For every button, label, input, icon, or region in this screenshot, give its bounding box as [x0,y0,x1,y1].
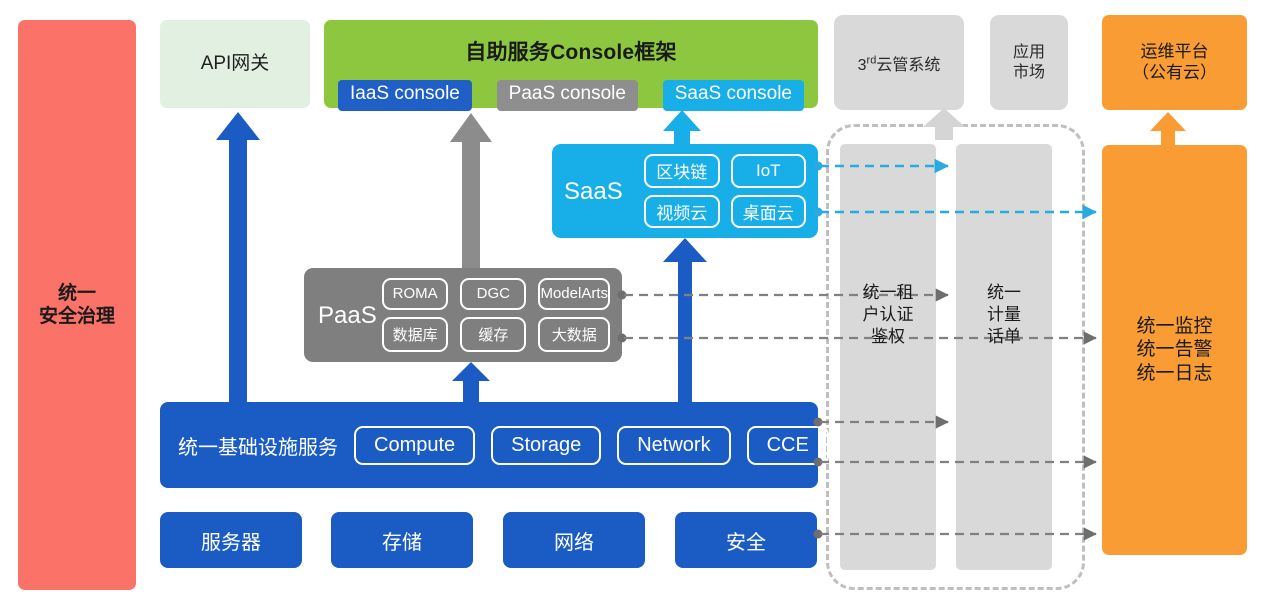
infra-service-chip[interactable]: CCE [747,426,829,465]
api-gateway-box: API网关 [160,20,310,108]
unified-metering-billing-label: 统一 计量 话单 [956,282,1052,348]
saas-service-chip[interactable]: 区块链 [644,154,720,188]
unified-monitoring-panel: 统一监控 统一告警 统一日志 [1102,145,1247,555]
hardware-tile-network[interactable]: 网络 [503,512,645,568]
hardware-tile-storage[interactable]: 存储 [331,512,473,568]
saas-service-chip[interactable]: 桌面云 [731,195,807,229]
saas-service-grid: 区块链 IoT 视频云 桌面云 [644,154,806,228]
infra-service-chip[interactable]: Compute [354,426,475,465]
hardware-tile-label: 存储 [382,526,422,555]
unified-security-governance-label: 统一 安全治理 [39,282,115,328]
infra-service-chip[interactable]: Network [617,426,730,465]
unified-tenant-auth-label: 统一租 户认证 鉴权 [840,282,936,348]
hardware-tile-label: 服务器 [201,526,261,555]
saas-layer: SaaS 区块链 IoT 视频云 桌面云 [552,144,818,238]
hardware-tile-security[interactable]: 安全 [675,512,817,568]
console-frame-title: 自助服务Console框架 [465,36,676,66]
unified-tenant-auth-column [840,144,936,570]
api-gateway-label: API网关 [201,52,270,75]
paas-console-chip[interactable]: PaaS console [497,80,638,111]
application-market-box: 应用 市场 [990,15,1068,110]
hardware-tile-label: 安全 [726,526,766,555]
console-chip-row: IaaS console PaaS console SaaS console [324,80,818,111]
arrow-infra-to-paas [452,362,490,402]
third-party-cloud-management-box: 3rd云管系统 [834,15,964,110]
arrow-infra-to-saas [663,238,707,402]
paas-service-chip[interactable]: 数据库 [382,317,448,353]
arrow-infra-to-api-gateway [216,112,260,402]
saas-service-chip[interactable]: 视频云 [644,195,720,229]
arrow-saas-to-console [663,110,701,144]
paas-service-chip[interactable]: ROMA [382,278,448,310]
saas-service-chip[interactable]: IoT [731,154,807,188]
paas-layer: PaaS ROMA DGC ModelArts 数据库 缓存 大数据 [304,268,622,362]
paas-service-grid: ROMA DGC ModelArts 数据库 缓存 大数据 [382,278,610,352]
paas-service-chip[interactable]: ModelArts [538,278,610,310]
ops-platform-public-cloud-box: 运维平台 （公有云） [1102,15,1247,110]
third-party-cloud-management-label: 3rd云管系统 [858,51,941,75]
unified-infrastructure-band: 统一基础设施服务 Compute Storage Network CCE [160,402,818,488]
hardware-tile-label: 网络 [554,526,594,555]
hardware-tile-server[interactable]: 服务器 [160,512,302,568]
saas-console-chip[interactable]: SaaS console [663,80,804,111]
application-market-label: 应用 市场 [1013,43,1045,82]
paas-layer-name: PaaS [318,302,377,330]
unified-infrastructure-title: 统一基础设施服务 [178,431,338,460]
self-service-console-frame: 自助服务Console框架 IaaS console PaaS console … [324,20,818,108]
paas-service-chip[interactable]: 大数据 [538,317,610,353]
arrow-shared-to-ops-platform [1150,112,1186,145]
unified-metering-billing-column [956,144,1052,570]
architecture-diagram: 统一 安全治理 API网关 自助服务Console框架 IaaS console… [0,0,1265,605]
iaas-console-chip[interactable]: IaaS console [338,80,472,111]
arrow-paas-to-console [450,113,492,268]
paas-service-chip[interactable]: DGC [460,278,526,310]
unified-security-governance-panel: 统一 安全治理 [18,20,136,590]
unified-monitoring-label: 统一监控 统一告警 统一日志 [1136,315,1212,385]
ops-platform-public-cloud-label: 运维平台 （公有云） [1132,42,1217,83]
saas-layer-name: SaaS [564,178,623,206]
infra-service-chip[interactable]: Storage [491,426,601,465]
paas-service-chip[interactable]: 缓存 [460,317,526,353]
